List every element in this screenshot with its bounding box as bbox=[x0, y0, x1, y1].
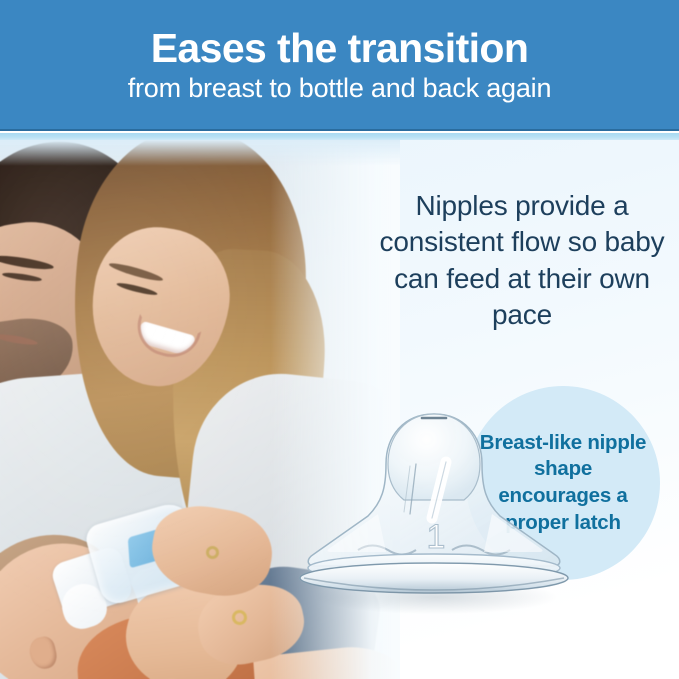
nipple-tip bbox=[388, 414, 480, 500]
product-drop-shadow bbox=[316, 580, 556, 614]
product-nipple: 1 bbox=[286, 402, 582, 614]
flow-rate-number: 1 bbox=[427, 518, 446, 556]
page-title: Eases the transition bbox=[151, 28, 529, 70]
body-copy: Nipples provide a consistent flow so bab… bbox=[372, 188, 672, 334]
header-accent-stripe bbox=[0, 133, 679, 140]
nipple-sheen-left bbox=[327, 514, 386, 552]
page-subtitle: from breast to bottle and back again bbox=[128, 73, 552, 105]
header-banner: Eases the transition from breast to bott… bbox=[0, 0, 679, 131]
content-stage: Nipples provide a consistent flow so bab… bbox=[0, 140, 679, 679]
infographic-root: Eases the transition from breast to bott… bbox=[0, 0, 679, 679]
nipple-sheen-right bbox=[484, 514, 543, 552]
